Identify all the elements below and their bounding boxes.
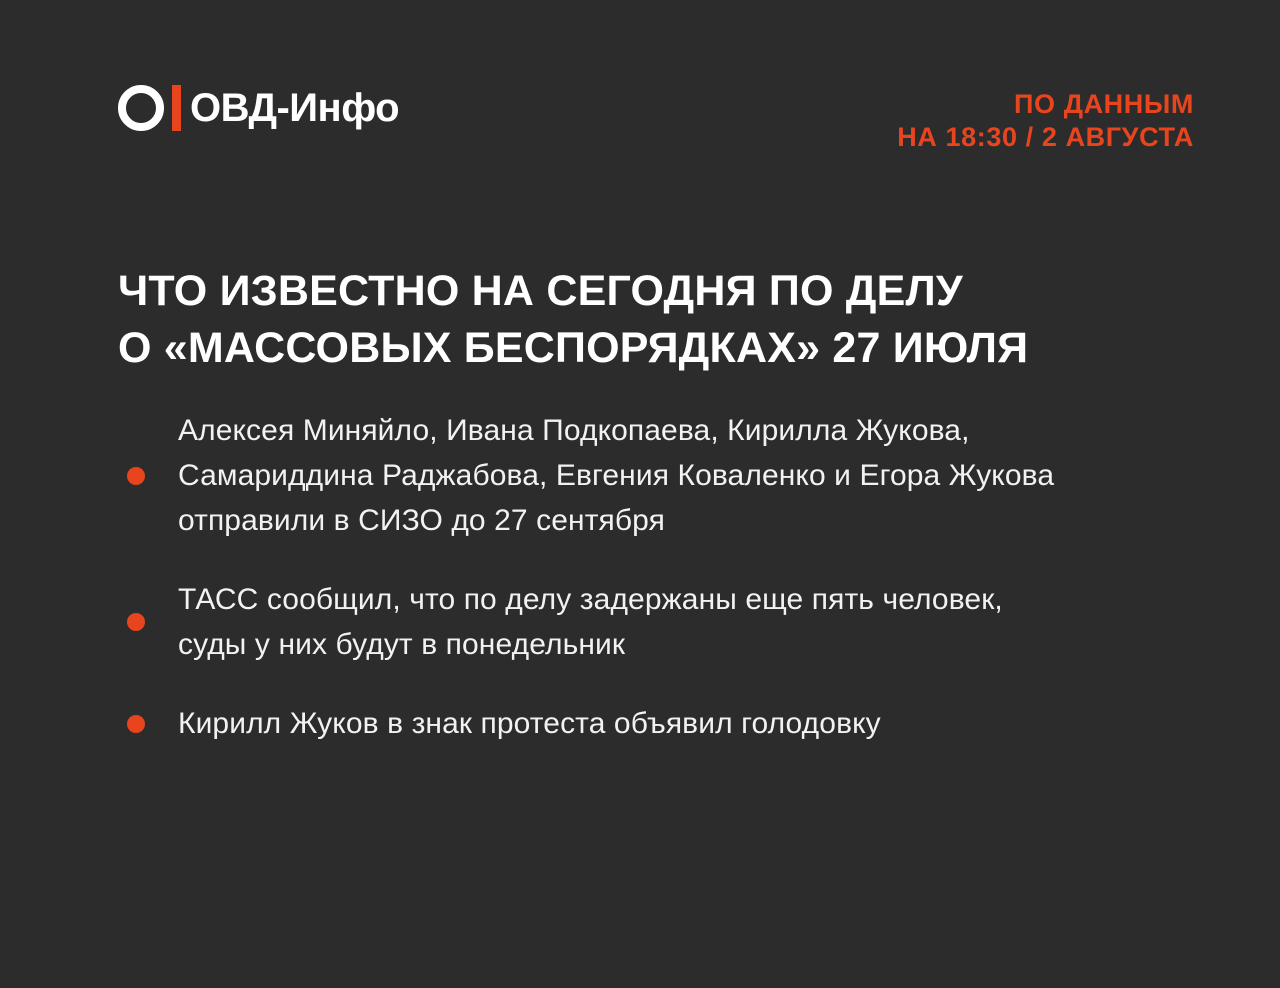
ovd-info-logo[interactable]: ОВД-Инфо [118,83,399,133]
list-item-line: ТАСС сообщил, что по делу задержаны еще … [178,577,1003,622]
list-item-line: Самариддина Раджабова, Евгения Коваленко… [178,453,1054,498]
circle-outline-icon [118,85,164,131]
list-item-line: отправили в СИЗО до 27 сентября [178,498,1054,543]
list-item-text: Кирилл Жуков в знак протеста объявил гол… [178,701,881,746]
vertical-bar-icon [172,85,181,131]
list-item-text: ТАСС сообщил, что по делу задержаны еще … [178,577,1003,667]
stamp-line-2: НА 18:30 / 2 АВГУСТА [897,121,1194,154]
list-item-text: Алексея Миняйло, Ивана Подкопаева, Кирил… [178,408,1054,543]
stamp-line-1: ПО ДАННЫМ [897,88,1194,121]
list-item-line: Алексея Миняйло, Ивана Подкопаева, Кирил… [178,408,1054,453]
page-title-line-1: ЧТО ИЗВЕСТНО НА СЕГОДНЯ ПО ДЕЛУ [118,263,1210,320]
list-item-line: суды у них будут в понедельник [178,622,1003,667]
bullet-list: Алексея Миняйло, Ивана Подкопаева, Кирил… [118,408,1220,746]
list-item: Кирилл Жуков в знак протеста объявил гол… [118,701,1220,746]
page-title-line-2: О «МАССОВЫХ БЕСПОРЯДКАХ» 27 ИЮЛЯ [118,320,1210,377]
logo-wordmark: ОВД-Инфо [190,85,399,131]
infographic-card: ОВД-Инфо ПО ДАННЫМ НА 18:30 / 2 АВГУСТА … [0,0,1280,988]
list-item: ТАСС сообщил, что по делу задержаны еще … [118,577,1220,667]
header: ОВД-Инфо ПО ДАННЫМ НА 18:30 / 2 АВГУСТА [118,70,1194,160]
list-item-line: Кирилл Жуков в знак протеста объявил гол… [178,701,881,746]
bullet-dot-icon [127,613,145,631]
data-timestamp-stamp: ПО ДАННЫМ НА 18:30 / 2 АВГУСТА [897,88,1194,154]
bullet-dot-icon [127,715,145,733]
page-title: ЧТО ИЗВЕСТНО НА СЕГОДНЯ ПО ДЕЛУ О «МАССО… [118,263,1210,377]
bullet-dot-icon [127,467,145,485]
list-item: Алексея Миняйло, Ивана Подкопаева, Кирил… [118,408,1220,543]
